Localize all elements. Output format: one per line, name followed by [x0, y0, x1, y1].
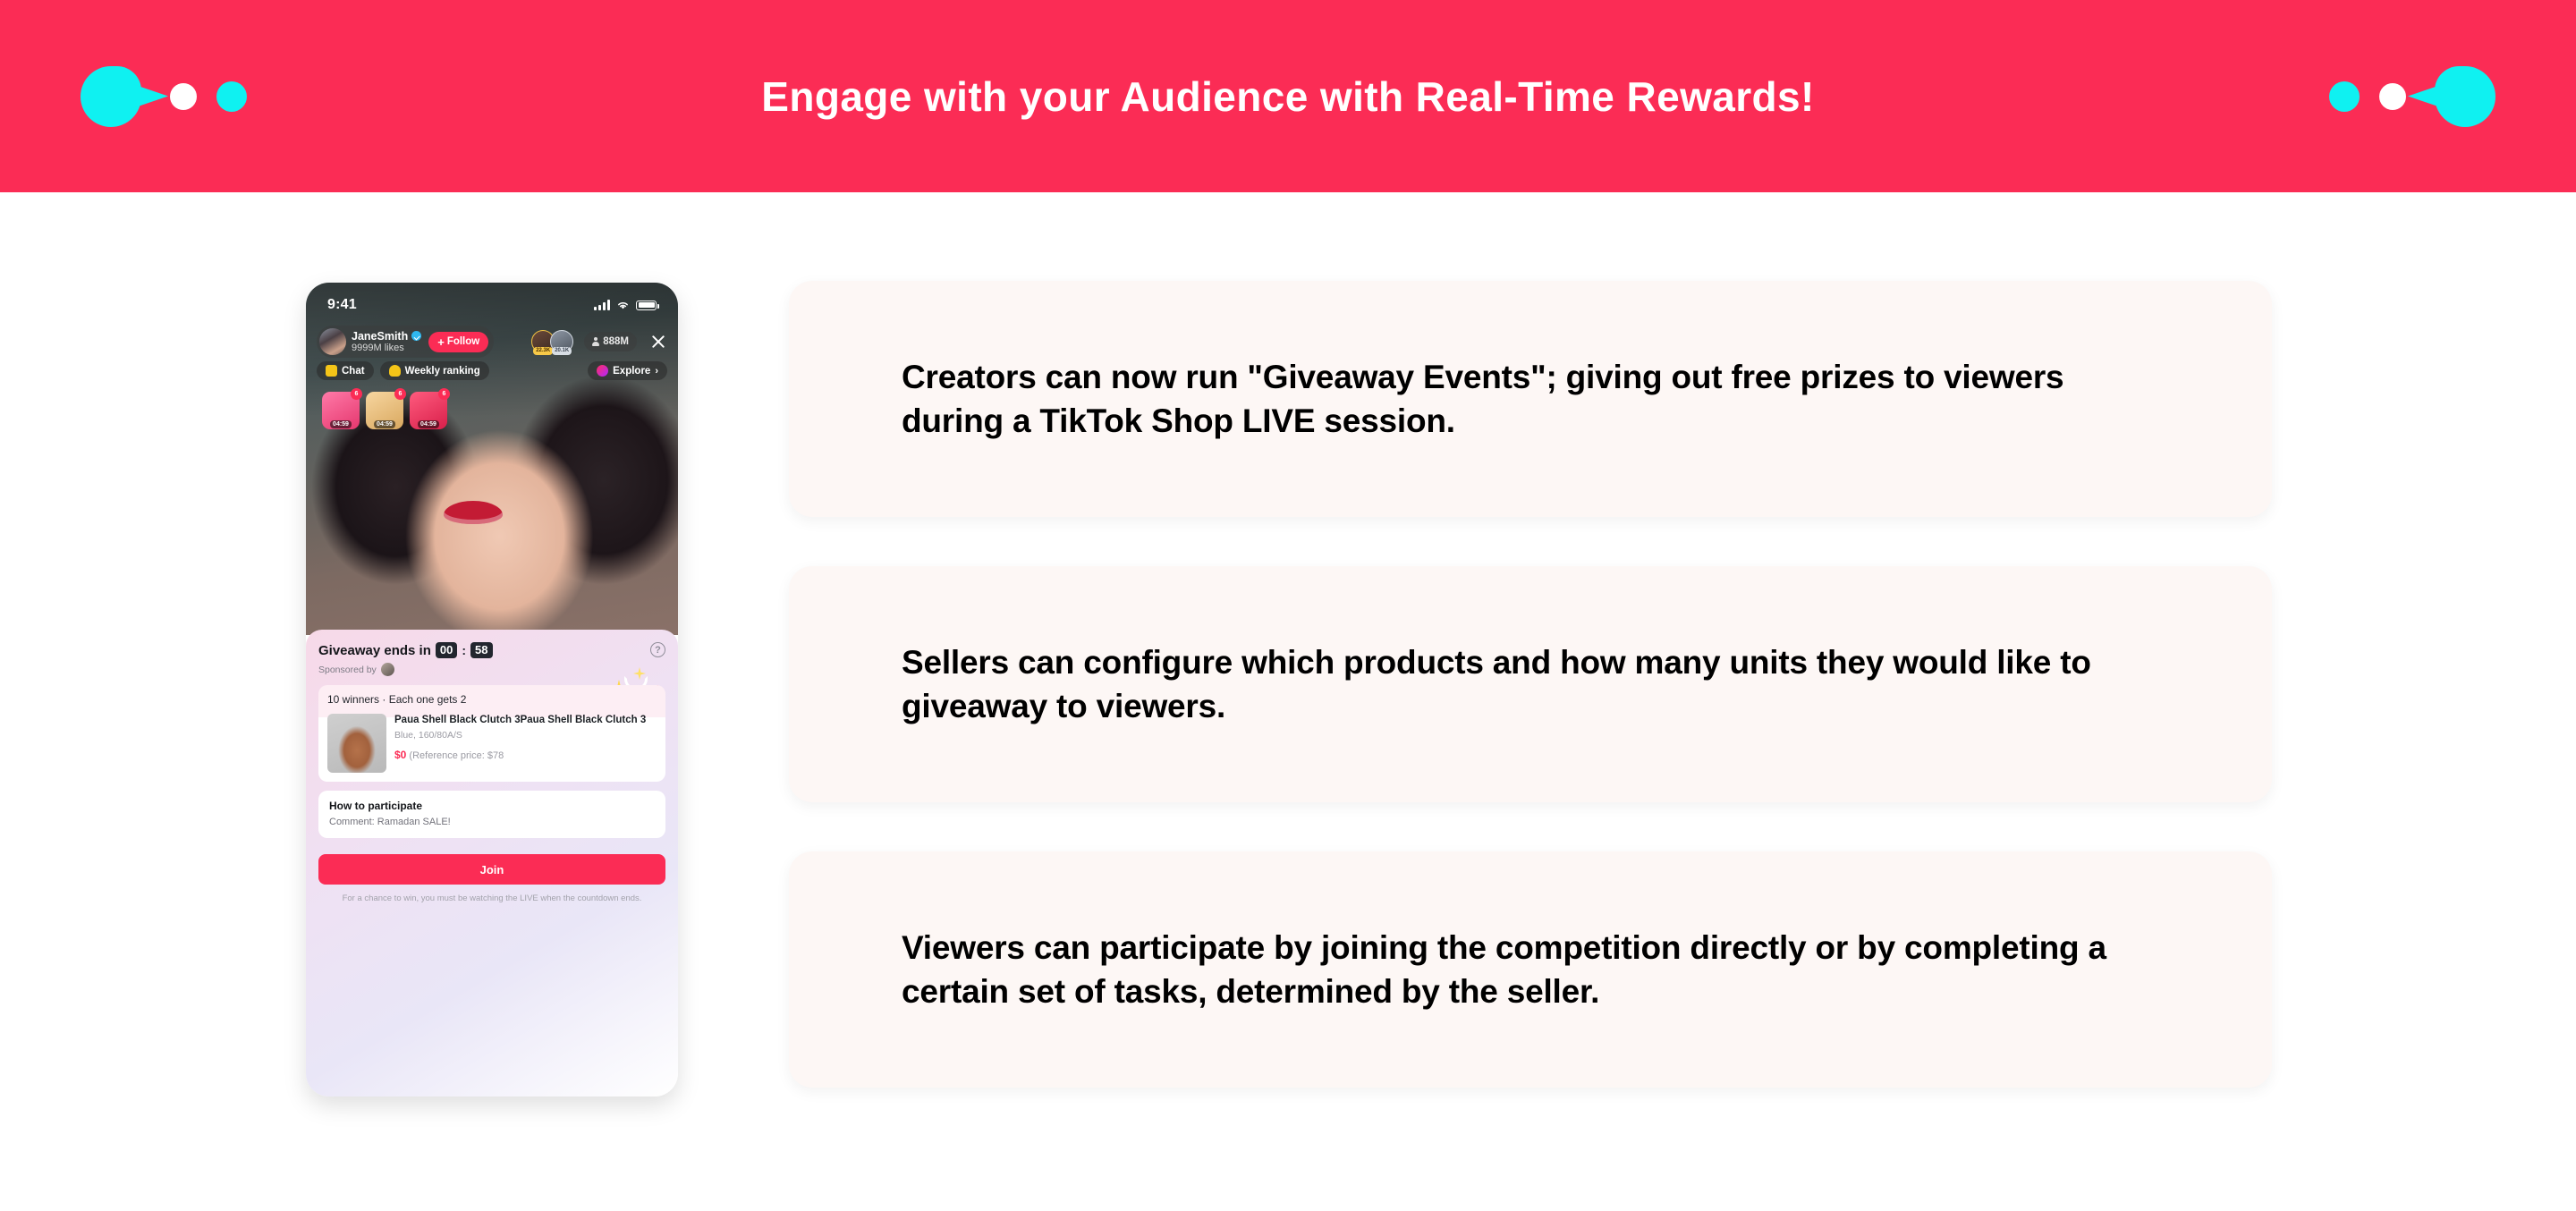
chat-chip-label: Chat — [342, 366, 365, 377]
giveaway-product[interactable]: Paua Shell Black Clutch 3Paua Shell Blac… — [327, 714, 657, 773]
top-viewer-badge-2: 20.1K — [552, 347, 572, 355]
feature-card-3: Viewers can participate by joining the c… — [789, 851, 2272, 1088]
follow-button-label: Follow — [447, 336, 479, 347]
teardrop-blob-icon — [2435, 66, 2495, 127]
top-viewer-badge-1: 22.3K — [533, 347, 553, 355]
gift-count-badge: 6 — [438, 388, 450, 400]
gift-timer: 04:59 — [418, 420, 439, 428]
white-dot-icon — [170, 83, 197, 110]
sponsor-avatar[interactable] — [381, 663, 394, 676]
winners-line: 10 winners · Each one gets 2 — [327, 693, 657, 706]
status-icons — [594, 300, 657, 310]
feature-cards: Creators can now run "Giveaway Events"; … — [789, 281, 2272, 1088]
viewer-count-pill[interactable]: 888M — [584, 332, 637, 351]
join-disclaimer: For a chance to win, you must be watchin… — [318, 893, 665, 905]
creator-avatar[interactable] — [319, 328, 346, 355]
gift-count-badge: 6 — [394, 388, 406, 400]
status-time: 9:41 — [327, 297, 357, 313]
chat-icon — [326, 365, 337, 377]
how-to-participate-card: How to participate Comment: Ramadan SALE… — [318, 791, 665, 838]
creator-profile-pill[interactable]: JaneSmith 9999M likes + Follow — [317, 326, 494, 358]
gift-badge-box[interactable]: 6 04:59 — [366, 392, 403, 429]
product-reference-price: (Reference price: $78 — [409, 750, 504, 761]
gift-timer: 04:59 — [374, 420, 395, 428]
top-viewers-avatars[interactable]: 22.3K 20.1K — [531, 330, 573, 353]
sponsored-by-row: Sponsored by — [318, 663, 493, 676]
phone-status-bar: 9:41 — [306, 297, 678, 313]
sponsored-by-label: Sponsored by — [318, 665, 377, 675]
verified-badge-icon — [411, 331, 421, 341]
wifi-icon — [616, 300, 630, 310]
feature-card-1: Creators can now run "Giveaway Events"; … — [789, 281, 2272, 517]
feature-card-1-text: Creators can now run "Giveaway Events"; … — [902, 355, 2159, 443]
battery-icon — [636, 301, 657, 310]
chevron-right-icon: › — [655, 366, 658, 377]
white-dot-icon — [2379, 83, 2406, 110]
header-decoration-right — [2329, 0, 2495, 192]
gift-count-badge: 6 — [351, 388, 362, 400]
cellular-signal-icon — [594, 300, 610, 310]
cyan-dot-icon — [2329, 81, 2360, 112]
feature-card-2: Sellers can configure which products and… — [789, 566, 2272, 802]
gift-badges: 6 04:59 6 04:59 6 04:59 — [322, 392, 447, 429]
close-icon[interactable] — [649, 333, 667, 351]
countdown-seconds: 58 — [470, 642, 492, 658]
gift-badge-coupon[interactable]: 6 04:59 — [410, 392, 447, 429]
product-thumbnail — [327, 714, 386, 773]
giveaway-prize-card: 10 winners · Each one gets 2 Paua Shell … — [318, 685, 665, 782]
product-price-row: $0 (Reference price: $78 — [394, 749, 657, 761]
giveaway-title-text: Giveaway ends in — [318, 643, 431, 658]
crown-icon — [389, 365, 401, 377]
product-variant: Blue, 160/80A/S — [394, 730, 657, 741]
explore-chip[interactable]: Explore › — [588, 361, 667, 380]
viewer-count: 888M — [603, 336, 629, 347]
page-title: Engage with your Audience with Real-Time… — [761, 72, 1814, 121]
cyan-dot-icon — [216, 81, 247, 112]
giveaway-countdown-title: Giveaway ends in 00 : 58 — [318, 642, 493, 658]
gift-badge-bag[interactable]: 6 04:59 — [322, 392, 360, 429]
creator-likes: 9999M likes — [352, 343, 421, 353]
product-price: $0 — [394, 749, 406, 761]
gift-timer: 04:59 — [330, 420, 352, 428]
feature-card-3-text: Viewers can participate by joining the c… — [902, 926, 2159, 1013]
explore-chip-label: Explore — [613, 366, 650, 377]
person-icon — [592, 337, 599, 346]
countdown-colon: : — [462, 643, 466, 657]
how-to-participate-title: How to participate — [329, 800, 655, 812]
explore-icon — [597, 365, 608, 377]
creator-name: JaneSmith — [352, 330, 408, 343]
header-decoration-left — [80, 0, 247, 192]
join-button[interactable]: Join — [318, 854, 665, 885]
phone-mockup: 9:41 JaneSmith 9999M likes + — [306, 283, 678, 1097]
product-name: Paua Shell Black Clutch 3Paua Shell Blac… — [394, 714, 657, 727]
countdown-minutes: 00 — [436, 642, 457, 658]
giveaway-panel: Giveaway ends in 00 : 58 Sponsored by ? … — [306, 630, 678, 1097]
page-header: Engage with your Audience with Real-Time… — [0, 0, 2576, 192]
live-chips-row: Chat Weekly ranking Explore › — [317, 361, 667, 380]
feature-card-2-text: Sellers can configure which products and… — [902, 640, 2159, 728]
live-creator-row: JaneSmith 9999M likes + Follow 22.3K 20.… — [317, 326, 667, 358]
follow-button[interactable]: + Follow — [428, 332, 488, 352]
weekly-ranking-chip-label: Weekly ranking — [405, 366, 480, 377]
weekly-ranking-chip[interactable]: Weekly ranking — [380, 361, 489, 380]
chat-chip[interactable]: Chat — [317, 361, 374, 380]
teardrop-blob-icon — [80, 66, 141, 127]
help-icon[interactable]: ? — [650, 642, 665, 657]
top-viewer-avatar-2[interactable]: 20.1K — [550, 330, 573, 353]
plus-icon: + — [437, 336, 445, 348]
how-to-participate-text: Comment: Ramadan SALE! — [329, 817, 655, 827]
